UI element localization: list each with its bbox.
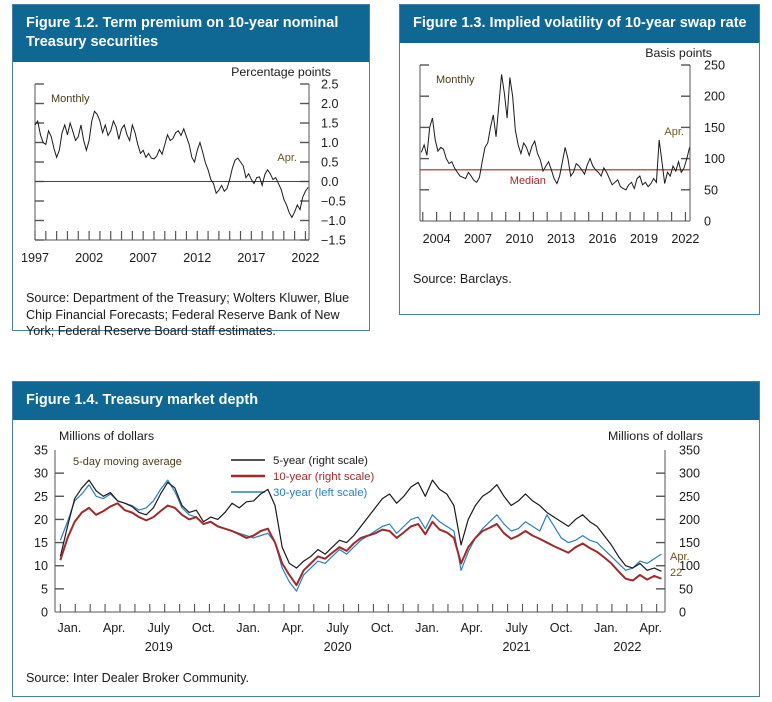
y-tick-label-right: 0: [679, 606, 686, 620]
y-tick-label: 0: [704, 215, 711, 229]
x-tick-label: 2017: [237, 251, 265, 265]
x-tick-label: July: [326, 621, 349, 635]
series-line-implied-volatility: [421, 74, 689, 189]
x-tick-label: Apr.: [103, 621, 125, 635]
series-line-term-premium: [35, 111, 308, 217]
y-tick-label: 2.5: [321, 78, 339, 92]
y-tick-label: 200: [704, 90, 725, 104]
last-point-annotation-line2: 22: [670, 567, 682, 579]
x-tick-label: Apr.: [282, 621, 304, 635]
y-tick-label-right: 150: [679, 536, 700, 550]
unit-label: Percentage points: [231, 65, 331, 79]
y-tick-label: −1.0: [321, 214, 346, 228]
x-tick-label: Jan.: [57, 621, 81, 635]
x-tick-label: 2022: [291, 251, 319, 265]
unit-label-right: Millions of dollars: [608, 429, 703, 443]
figure-source-1-4: Source: Inter Dealer Broker Community.: [13, 664, 759, 694]
y-tick-label-left: 35: [34, 444, 48, 458]
x-tick-label: Apr.: [461, 621, 483, 635]
figure-plot-1-4: Millions of dollarsMillions of dollars35…: [13, 420, 759, 664]
figure-card-1-3: Figure 1.3. Implied volatility of 10-yea…: [399, 4, 760, 315]
chart-1-2: Percentage points2.52.01.51.00.50.0−0.5−…: [13, 62, 369, 284]
y-tick-label: 0.5: [321, 156, 339, 170]
x-tick-label: Jan.: [594, 621, 618, 635]
median-label: Median: [510, 175, 546, 187]
x-tick-label: Apr.: [639, 621, 661, 635]
figure-title-1-2: Figure 1.2. Term premium on 10-year nomi…: [13, 5, 369, 62]
y-tick-label-right: 200: [679, 513, 700, 527]
x-tick-label: 2002: [75, 251, 103, 265]
y-tick-label-left: 20: [34, 513, 48, 527]
frequency-label: Monthly: [436, 74, 475, 86]
y-tick-label: 50: [704, 183, 718, 197]
x-tick-label: 2016: [588, 232, 616, 246]
x-tick-label: July: [505, 621, 528, 635]
chart-1-4: Millions of dollarsMillions of dollars35…: [13, 420, 759, 664]
x-tick-label: Jan.: [415, 621, 439, 635]
x-tick-label: 2012: [183, 251, 211, 265]
figure-card-1-2: Figure 1.2. Term premium on 10-year nomi…: [12, 4, 370, 331]
unit-label-left: Millions of dollars: [59, 429, 154, 443]
y-tick-label: 1.5: [321, 117, 339, 131]
y-tick-label: 250: [704, 59, 725, 73]
chart-1-3: Basis points2502001501005002004200720102…: [400, 43, 759, 265]
x-tick-label: 2007: [129, 251, 157, 265]
figure-title-1-3: Figure 1.3. Implied volatility of 10-yea…: [400, 5, 759, 43]
y-tick-label-left: 15: [34, 536, 48, 550]
x-tick-label: Jan.: [236, 621, 260, 635]
x-year-label: 2020: [324, 640, 352, 654]
last-point-annotation-line1: Apr.: [670, 551, 690, 563]
x-tick-label: Oct.: [371, 621, 394, 635]
y-tick-label: 1.0: [321, 136, 339, 150]
x-tick-label: 2007: [464, 232, 492, 246]
y-tick-label-right: 350: [679, 444, 700, 458]
y-tick-label-left: 30: [34, 467, 48, 481]
x-tick-label: 2004: [423, 232, 451, 246]
y-tick-label-left: 0: [41, 606, 48, 620]
legend-label-2: 30-year (left scale): [273, 487, 368, 499]
figure-card-1-4: Figure 1.4. Treasury market depth Millio…: [12, 381, 760, 697]
x-year-label: 2022: [613, 640, 641, 654]
last-point-annotation: Apr.: [664, 126, 684, 138]
legend-label-1: 10-year (right scale): [273, 471, 374, 483]
x-tick-label: July: [148, 621, 171, 635]
x-tick-label: 2013: [547, 232, 575, 246]
y-tick-label: 0.0: [321, 175, 339, 189]
y-tick-label-left: 25: [34, 490, 48, 504]
figure-plot-1-3: Basis points2502001501005002004200720102…: [400, 43, 759, 265]
y-tick-label-left: 10: [34, 559, 48, 573]
x-tick-label: Oct.: [550, 621, 573, 635]
y-tick-label: −1.5: [321, 234, 346, 248]
figure-source-1-3: Source: Barclays.: [400, 265, 759, 295]
y-tick-label: −0.5: [321, 195, 346, 209]
unit-label: Basis points: [645, 46, 712, 60]
x-tick-label: 2010: [506, 232, 534, 246]
y-tick-label: 100: [704, 152, 725, 166]
x-year-label: 2019: [145, 640, 173, 654]
y-tick-label-right: 250: [679, 490, 700, 504]
x-tick-label: Oct.: [192, 621, 215, 635]
figure-plot-1-2: Percentage points2.52.01.51.00.50.0−0.5−…: [13, 62, 369, 284]
x-tick-label: 1997: [21, 251, 49, 265]
figure-title-1-4: Figure 1.4. Treasury market depth: [13, 382, 759, 420]
y-tick-label-right: 50: [679, 582, 693, 596]
x-tick-label: 2019: [630, 232, 658, 246]
legend-label-0: 5-year (right scale): [273, 455, 368, 467]
last-point-annotation: Apr.: [277, 152, 297, 164]
y-tick-label: 150: [704, 121, 725, 135]
series-line-10-year: [60, 503, 661, 585]
y-tick-label-left: 5: [41, 582, 48, 596]
x-year-label: 2021: [503, 640, 531, 654]
moving-average-note: 5-day moving average: [73, 456, 182, 468]
y-tick-label: 2.0: [321, 97, 339, 111]
figure-source-1-2: Source: Department of the Treasury; Wolt…: [13, 284, 369, 347]
y-tick-label-right: 300: [679, 467, 700, 481]
x-tick-label: 2022: [671, 232, 699, 246]
frequency-label: Monthly: [51, 93, 90, 105]
